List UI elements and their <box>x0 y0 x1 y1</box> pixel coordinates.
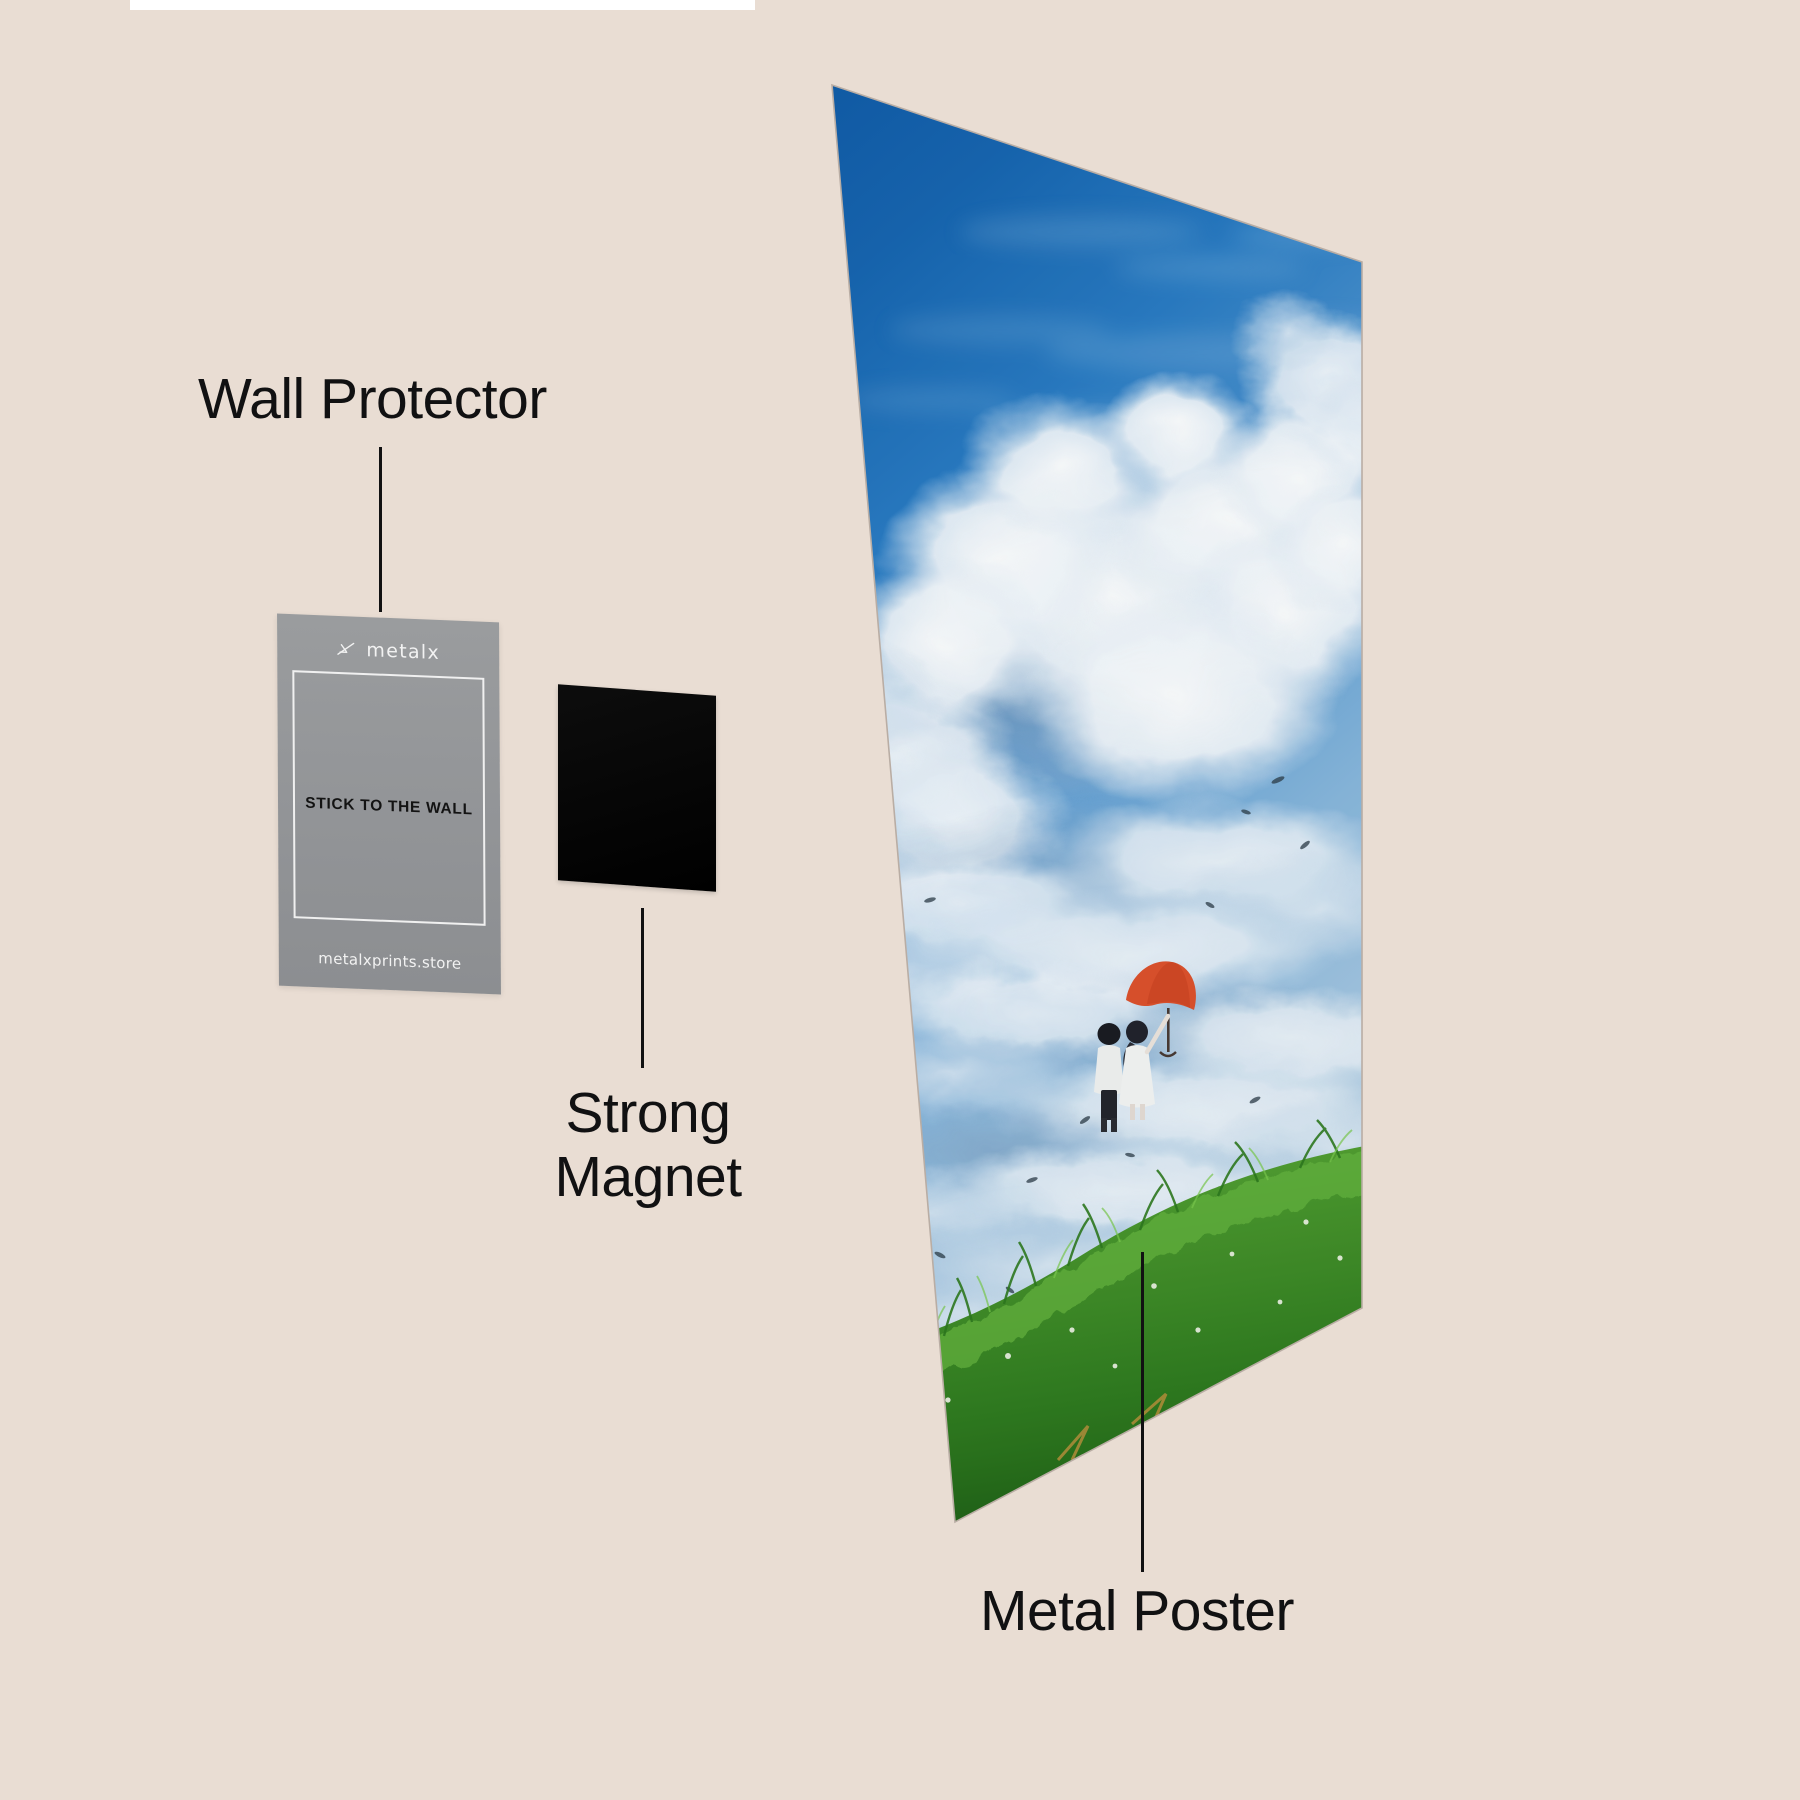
brand-wordmark: metalx <box>366 639 440 664</box>
background-canvas <box>0 0 1800 1800</box>
strong-magnet-square[interactable] <box>558 684 716 892</box>
callout-label-wall-protector: Wall Protector <box>198 368 547 432</box>
callout-label-strong-magnet: Strong Magnet <box>548 1082 748 1210</box>
wall-protector-card[interactable]: metalx STICK TO THE WALL metalxprints.st… <box>277 613 501 994</box>
callout-label-metal-poster: Metal Poster <box>980 1580 1294 1644</box>
leader-line-wall-protector <box>379 447 382 612</box>
leader-line-strong-magnet <box>641 908 644 1068</box>
leader-line-metal-poster <box>1141 1252 1144 1572</box>
product-infographic: metalx STICK TO THE WALL metalxprints.st… <box>0 0 1800 1800</box>
top-edge-notch <box>130 0 755 10</box>
brand-logo: metalx <box>277 636 499 667</box>
metalx-cross-icon <box>336 640 357 659</box>
brand-url: metalxprints.store <box>279 948 501 975</box>
